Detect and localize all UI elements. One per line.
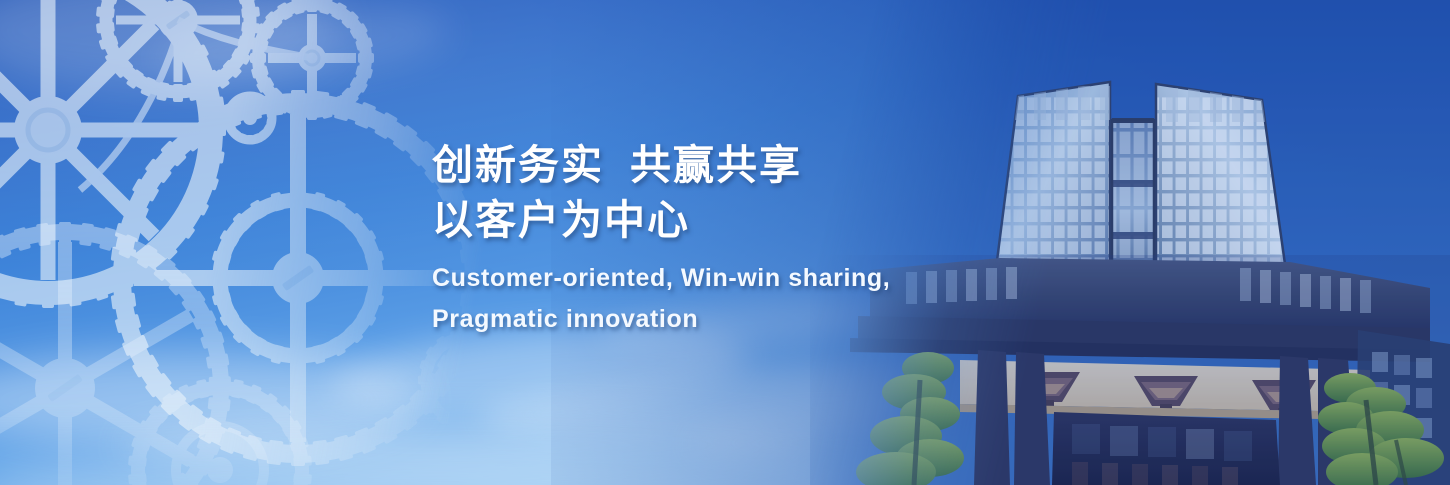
headline-cn-line-2: 以客户为中心 (432, 195, 992, 246)
gear-large-bottom (0, 222, 231, 485)
gear-overlay-lower (0, 170, 410, 485)
slogan-block: 创新务实共赢共享 以客户为中心 Customer-oriented, Win-w… (432, 140, 992, 340)
gears-lower-illustration (0, 170, 410, 485)
headline-cn-phrase-1: 创新务实 (432, 142, 604, 188)
headline-cn-phrase-2: 共赢共享 (630, 142, 802, 188)
corporate-hero-banner: 创新务实共赢共享 以客户为中心 Customer-oriented, Win-w… (0, 0, 1450, 485)
gear-medium-top (96, 0, 260, 102)
subhead-en-line-1: Customer-oriented, Win-win sharing, (432, 258, 992, 299)
subhead-en-block: Customer-oriented, Win-win sharing, Prag… (432, 258, 992, 340)
headline-cn-line-1: 创新务实共赢共享 (432, 140, 992, 191)
subhead-en-line-2: Pragmatic innovation (432, 299, 992, 340)
